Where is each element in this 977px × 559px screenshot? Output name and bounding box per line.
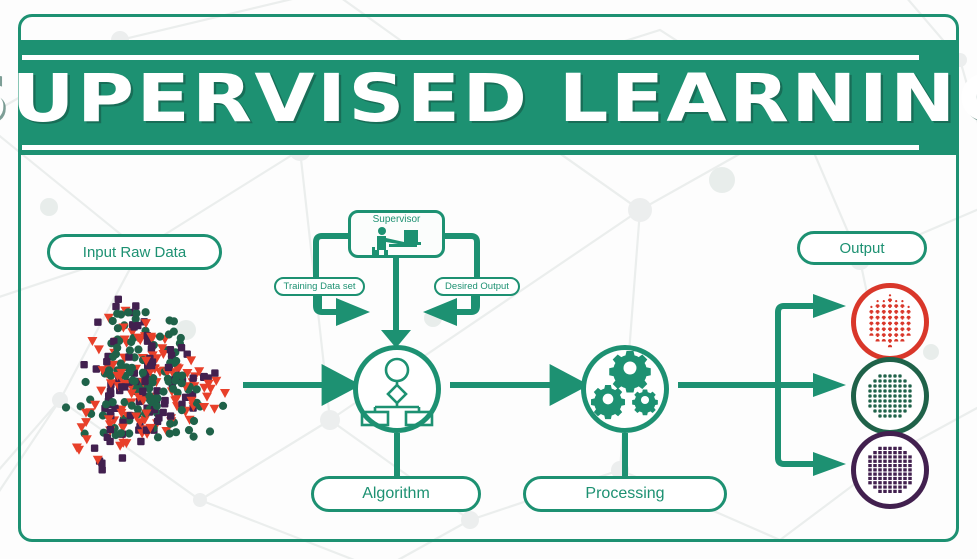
- person-pictogram-grid: [856, 288, 924, 356]
- processing-node[interactable]: [581, 345, 669, 433]
- pill-algorithm[interactable]: Algorithm: [311, 476, 481, 512]
- square-dot-grid: [856, 362, 924, 430]
- infographic-canvas: SUPERVISED LEARNING: [0, 0, 977, 559]
- pill-training-data-set[interactable]: Training Data set: [274, 277, 365, 296]
- output-cluster-purple[interactable]: [851, 431, 929, 509]
- pill-input-raw-data[interactable]: Input Raw Data: [47, 234, 222, 270]
- pill-output[interactable]: Output: [797, 231, 927, 265]
- vertical-bar-grid: [856, 436, 924, 504]
- pill-processing[interactable]: Processing: [523, 476, 727, 512]
- output-cluster-green[interactable]: [851, 357, 929, 435]
- supervisor-label: Supervisor: [348, 214, 445, 225]
- output-cluster-red[interactable]: [851, 283, 929, 361]
- page-title: SUPERVISED LEARNING: [0, 50, 977, 146]
- algorithm-node[interactable]: [353, 345, 441, 433]
- pill-desired-output[interactable]: Desired Output: [434, 277, 520, 296]
